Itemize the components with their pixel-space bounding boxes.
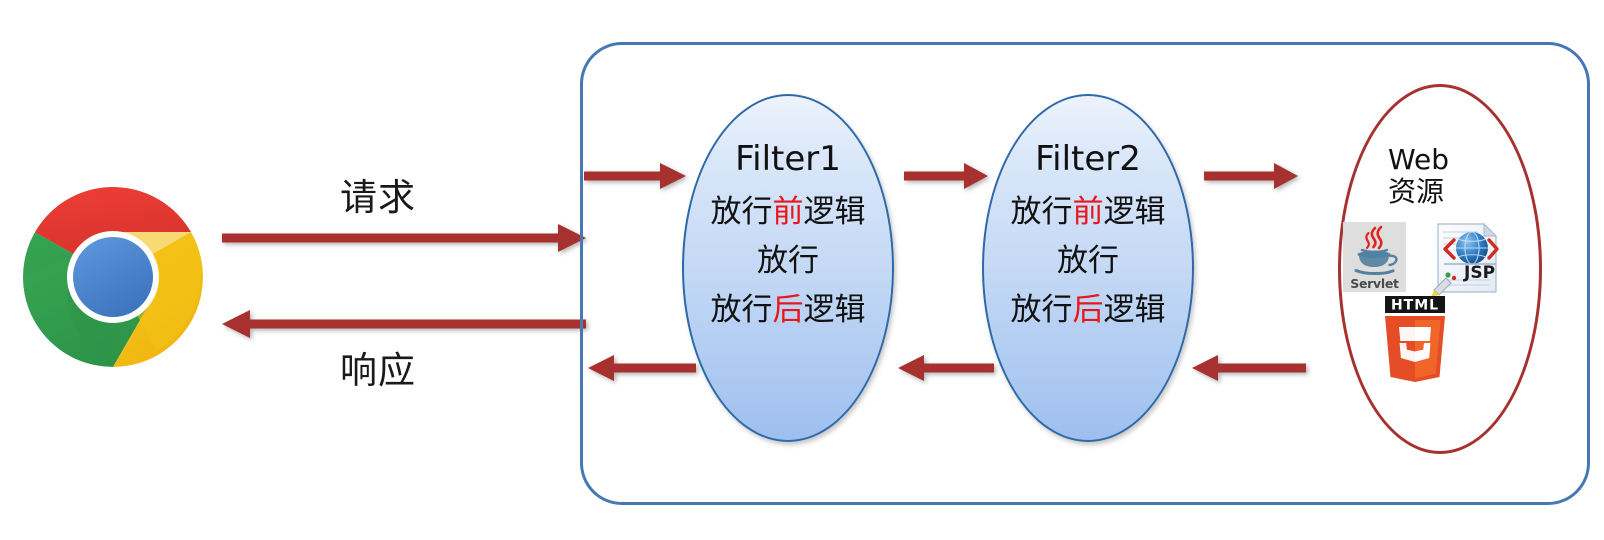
filter2-line-1-suffix: 逻辑: [1104, 194, 1166, 230]
filter2-line-3-suffix: 逻辑: [1104, 292, 1166, 328]
web-resource-label: Web 资源: [1388, 144, 1449, 209]
jsp-icon: JSP: [1426, 218, 1502, 298]
filter2-line-3: 放行后逻辑: [1011, 295, 1166, 326]
filter1-line-3-suffix: 逻辑: [804, 292, 866, 328]
filter1-ellipse[interactable]: Filter1 放行前逻辑 放行 放行后逻辑: [682, 94, 894, 442]
filter1-title: Filter1: [735, 142, 841, 176]
arrow-filter2-to-web: [1202, 158, 1302, 194]
filter1-line-1-highlight: 前: [773, 194, 804, 230]
servlet-icon: Servlet: [1343, 222, 1406, 292]
arrow-web-to-filter2: [1190, 350, 1308, 386]
jsp-file-icon: JSP: [1426, 218, 1502, 298]
filter2-line-3-highlight: 后: [1073, 292, 1104, 328]
filter2-line-2: 放行: [1057, 246, 1119, 277]
web-resource-label-line1: Web: [1388, 144, 1449, 176]
filter2-line-3-prefix: 放行: [1011, 292, 1073, 328]
filter1-line-3: 放行后逻辑: [711, 295, 866, 326]
filter2-line-1: 放行前逻辑: [1011, 197, 1166, 228]
filter2-title: Filter2: [1035, 142, 1141, 176]
chrome-browser-logo: [22, 186, 204, 368]
filter2-ellipse[interactable]: Filter2 放行前逻辑 放行 放行后逻辑: [982, 94, 1194, 442]
filter1-line-3-prefix: 放行: [711, 292, 773, 328]
filter2-line-1-prefix: 放行: [1011, 194, 1073, 230]
arrow-container-to-filter1: [582, 158, 690, 194]
filter1-line-1-prefix: 放行: [711, 194, 773, 230]
filter1-line-2-prefix: 放行: [757, 243, 819, 279]
html5-icon: HTML: [1379, 296, 1451, 382]
arrow-browser-to-server: [218, 219, 590, 257]
filter1-line-1: 放行前逻辑: [711, 197, 866, 228]
request-label: 请求: [340, 167, 416, 221]
arrow-filter1-to-container: [586, 350, 698, 386]
filter1-line-2: 放行: [757, 246, 819, 277]
svg-text:HTML: HTML: [1391, 298, 1439, 314]
filter2-line-2-prefix: 放行: [1057, 243, 1119, 279]
response-label: 响应: [340, 340, 416, 394]
html5-shield-icon: HTML: [1379, 296, 1451, 382]
chrome-logo-svg: [22, 186, 204, 368]
web-resource-label-line2: 资源: [1388, 176, 1449, 208]
servlet-icon-label: Servlet: [1343, 276, 1406, 291]
filter2-line-1-highlight: 前: [1073, 194, 1104, 230]
filter1-line-3-highlight: 后: [773, 292, 804, 328]
arrow-filter1-to-filter2: [902, 158, 992, 194]
diagram-canvas: 请求 响应 Filter1 放行前逻辑 放行 放行后逻辑 Filter2: [0, 0, 1604, 540]
arrow-server-to-browser: [218, 305, 590, 343]
arrow-filter2-to-filter1: [896, 350, 996, 386]
filter1-line-1-suffix: 逻辑: [804, 194, 866, 230]
java-coffee-cup-icon: [1343, 222, 1406, 278]
svg-text:JSP: JSP: [1463, 263, 1495, 283]
